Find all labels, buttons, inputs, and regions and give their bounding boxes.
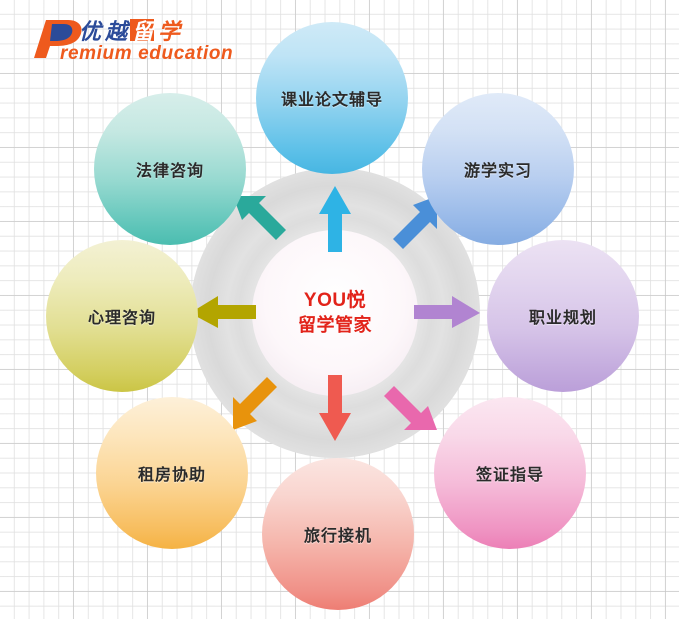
node-travel-pickup[interactable]: 旅行接机	[262, 458, 414, 610]
node-housing-help[interactable]: 租房协助	[96, 397, 248, 549]
logo-brand-cn-2: 留 学	[130, 19, 183, 45]
node-label: 租房协助	[138, 461, 206, 485]
node-label: 心理咨询	[88, 304, 156, 328]
node-visa-guidance[interactable]: 签证指导	[434, 397, 586, 549]
svg-text:留: 留	[132, 20, 158, 45]
logo-brand-cn: 优 越	[79, 20, 131, 45]
node-career-planning[interactable]: 职业规划	[487, 240, 639, 392]
svg-text:越: 越	[104, 20, 131, 45]
node-psych-counseling[interactable]: 心理咨询	[46, 240, 198, 392]
center-label: YOU悦 留学管家	[255, 288, 415, 338]
svg-text:优: 优	[79, 20, 104, 45]
center-label-line1: YOU悦	[255, 288, 415, 313]
node-legal-consulting[interactable]: 法律咨询	[94, 93, 246, 245]
node-label: 签证指导	[476, 461, 544, 485]
node-academic-tutoring[interactable]: 课业论文辅导	[256, 22, 408, 174]
svg-text:学: 学	[158, 19, 183, 45]
node-label: 旅行接机	[304, 522, 372, 546]
node-label: 游学实习	[464, 157, 532, 181]
logo-brand-en: remium education	[60, 43, 233, 64]
node-study-tour[interactable]: 游学实习	[422, 93, 574, 245]
brand-logo: 优 越 留 学 remium education	[24, 12, 264, 64]
node-label: 职业规划	[529, 304, 597, 328]
center-label-line2: 留学管家	[255, 313, 415, 338]
node-label: 法律咨询	[136, 157, 204, 181]
infographic-canvas: 优 越 留 学 remium education YOU悦 留学管家	[0, 0, 679, 619]
node-label: 课业论文辅导	[281, 86, 383, 110]
